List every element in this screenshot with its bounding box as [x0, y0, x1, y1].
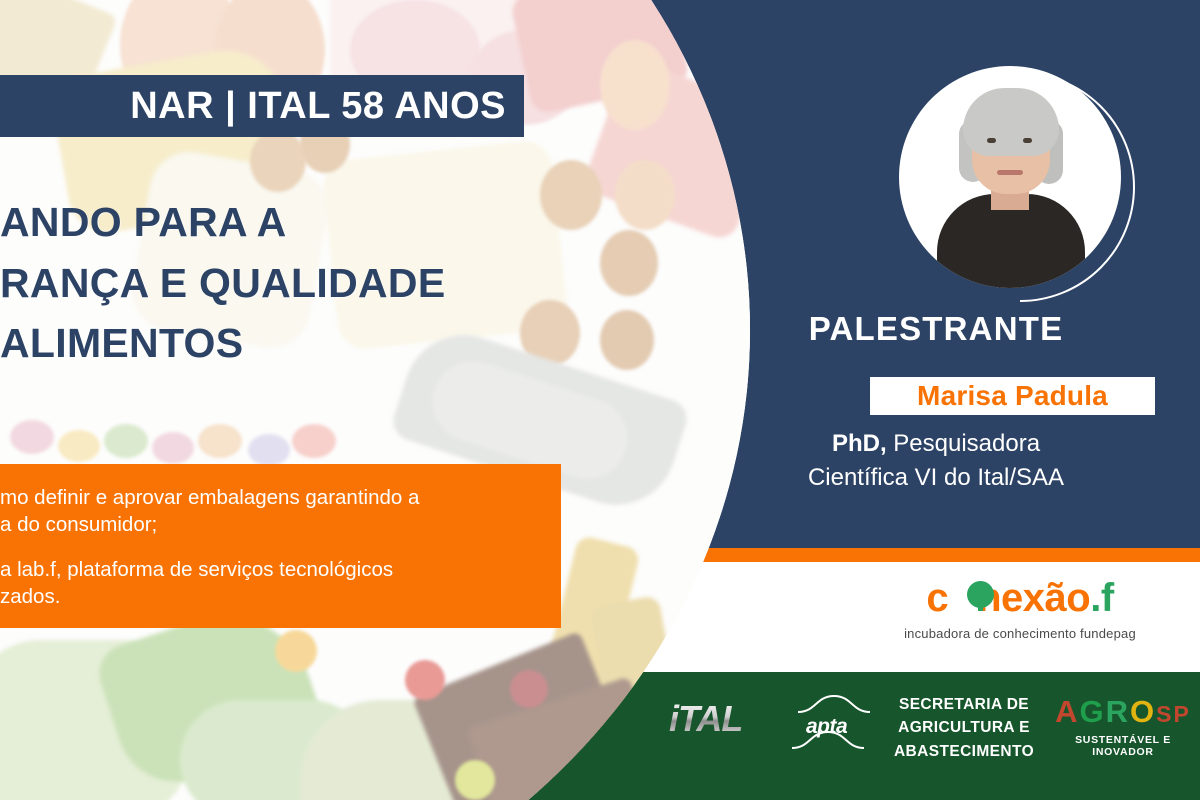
conexao-letter-c: c — [926, 576, 948, 620]
agro-letter-a: A — [1055, 694, 1079, 729]
description-item-1: mo definir e aprovar embalagens garantin… — [0, 484, 537, 538]
agro-letters-sp: SP — [1156, 701, 1191, 727]
agro-sp-wordmark: AGROSP — [1048, 696, 1198, 727]
partner-logos: iTAL apta SECRETARIA DE AGRICULTURA E AB… — [640, 690, 1200, 770]
conexao-letters-ao: ão — [1045, 576, 1091, 620]
portrait-mouth — [997, 170, 1023, 175]
event-banner-strip: NAR | ITAL 58 ANOS — [0, 75, 524, 137]
speaker-name-box: Marisa Padula — [870, 377, 1155, 415]
title-line-3: ALIMENTOS — [0, 313, 550, 374]
webinar-promo-banner: NAR | ITAL 58 ANOS ANDO PARA A RANÇA E Q… — [0, 0, 1200, 800]
title-line-2: RANÇA E QUALIDADE — [0, 253, 550, 314]
speaker-name: Marisa Padula — [917, 380, 1108, 412]
conexao-letters-nex: nex — [948, 576, 1044, 620]
conexao-wordmark: cnexão.f — [926, 578, 1113, 618]
description-line-2: a do consumidor; — [0, 513, 157, 536]
conexao-tagline: incubadora de conhecimento fundepag — [860, 626, 1180, 641]
description-line-1: mo definir e aprovar embalagens garantin… — [0, 486, 419, 509]
apta-logo: apta — [790, 692, 886, 754]
speaker-role-line2: Científica VI do Ital/SAA — [808, 464, 1064, 491]
description-line-4: zados. — [0, 585, 60, 608]
page-title: ANDO PARA A RANÇA E QUALIDADE ALIMENTOS — [0, 192, 550, 374]
agro-sp-logo: AGROSP SUSTENTÁVEL E INOVADOR — [1048, 696, 1198, 758]
secretaria-line-3: ABASTECIMENTO — [888, 740, 1040, 763]
agro-sp-tagline: SUSTENTÁVEL E INOVADOR — [1048, 734, 1198, 758]
speaker-role-rest: Pesquisadora — [887, 430, 1040, 457]
portrait-eye-left — [987, 138, 996, 143]
agro-letter-o: O — [1130, 694, 1156, 729]
conexao-dot-f: .f — [1090, 576, 1113, 620]
agro-letter-g: G — [1080, 694, 1106, 729]
secretaria-line-2: AGRICULTURA E — [888, 716, 1040, 739]
ital-logo: iTAL — [669, 698, 742, 740]
apta-wordmark: apta — [806, 715, 847, 739]
title-line-1: ANDO PARA A — [0, 192, 550, 253]
speaker-heading: PALESTRANTE — [672, 310, 1200, 348]
speaker-portrait-wrap — [899, 66, 1121, 288]
speaker-credential: PhD, — [832, 430, 887, 457]
agro-letter-r: R — [1106, 694, 1130, 729]
conexao-logo: cnexão.f incubadora de conhecimento fund… — [860, 578, 1180, 641]
secretaria-logo: SECRETARIA DE AGRICULTURA E ABASTECIMENT… — [888, 693, 1040, 763]
description-box: mo definir e aprovar embalagens garantin… — [0, 464, 561, 628]
speaker-role: PhD, Pesquisadora Científica VI do Ital/… — [672, 427, 1200, 495]
description-line-3: a lab.f, plataforma de serviços tecnológ… — [0, 558, 393, 581]
event-banner-label: NAR | ITAL 58 ANOS — [130, 85, 506, 128]
description-item-2: a lab.f, plataforma de serviços tecnológ… — [0, 556, 537, 610]
secretaria-line-1: SECRETARIA DE — [888, 693, 1040, 716]
